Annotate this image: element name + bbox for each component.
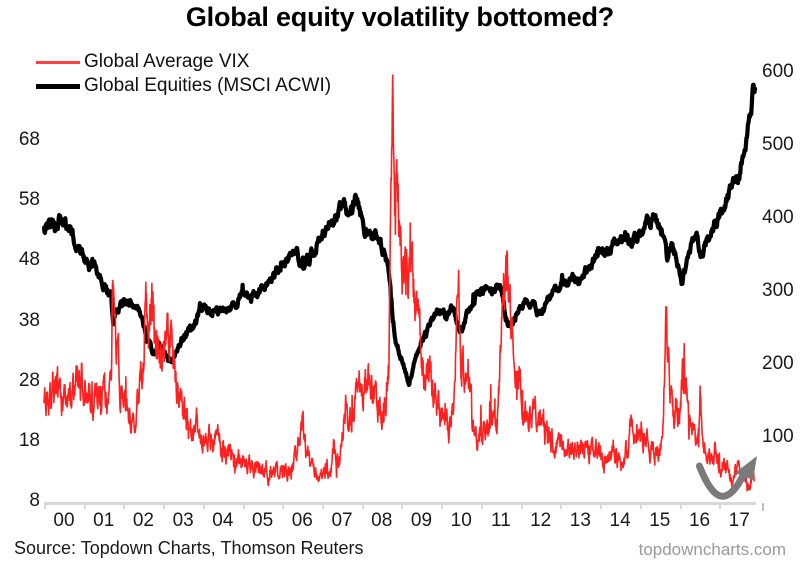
x-axis-end-tick [762, 503, 764, 511]
x-axis-tick-mark-15 [640, 502, 642, 509]
left-axis-tick-28: 28 [0, 371, 40, 390]
x-axis-tick-15: 15 [643, 510, 677, 532]
x-axis-tick-mark-09 [401, 502, 403, 509]
x-axis-tick-mark-02 [123, 502, 125, 509]
x-axis-tick-02: 02 [126, 510, 160, 532]
left-axis-tick-48: 48 [0, 250, 40, 269]
left-axis-tick-18: 18 [0, 431, 40, 450]
series-line-global-average-vix [44, 75, 754, 491]
x-axis-tick-mark-05 [243, 502, 245, 509]
x-axis-tick-12: 12 [524, 510, 558, 532]
footer-divider [0, 533, 800, 534]
left-axis-tick-8: 8 [0, 491, 40, 510]
right-axis-tick-500: 500 [762, 135, 800, 154]
x-axis-tick-03: 03 [166, 510, 200, 532]
plot-area [44, 62, 756, 502]
chart-title: Global equity volatility bottomed? [0, 2, 800, 33]
right-axis-tick-300: 300 [762, 281, 800, 300]
x-axis-tick-mark-13 [560, 502, 562, 509]
x-axis-tick-mark-00 [44, 502, 46, 509]
x-axis-tick-mark-14 [600, 502, 602, 509]
x-axis-tick-06: 06 [285, 510, 319, 532]
x-axis-tick-mark-07 [322, 502, 324, 509]
series-canvas [44, 62, 756, 502]
x-axis-tick-mark-01 [84, 502, 86, 509]
x-axis-tick-00: 00 [47, 510, 81, 532]
x-axis-tick-07: 07 [325, 510, 359, 532]
x-axis-tick-mark-11 [481, 502, 483, 509]
x-axis-tick-mark-16 [680, 502, 682, 509]
left-axis-tick-68: 68 [0, 130, 40, 149]
x-axis-tick-mark-17 [719, 502, 721, 509]
right-axis-tick-100: 100 [762, 427, 800, 446]
x-axis-tick-mark-10 [441, 502, 443, 509]
chart-container: Global equity volatility bottomed? Globa… [0, 0, 800, 576]
x-axis-tick-08: 08 [365, 510, 399, 532]
x-axis-tick-05: 05 [246, 510, 280, 532]
left-axis-tick-58: 58 [0, 190, 40, 209]
left-axis-tick-38: 38 [0, 311, 40, 330]
x-axis-tick-17: 17 [722, 510, 756, 532]
x-axis-tick-mark-06 [282, 502, 284, 509]
x-axis-tick-13: 13 [563, 510, 597, 532]
right-axis-tick-200: 200 [762, 354, 800, 373]
x-axis-tick-01: 01 [87, 510, 121, 532]
watermark: topdowncharts.com [639, 540, 786, 560]
x-axis-tick-mark-03 [163, 502, 165, 509]
x-axis-tick-14: 14 [603, 510, 637, 532]
x-axis-tick-16: 16 [683, 510, 717, 532]
x-axis-tick-mark-04 [203, 502, 205, 509]
right-axis-tick-600: 600 [762, 62, 800, 81]
x-axis-tick-11: 11 [484, 510, 518, 532]
x-axis-tick-mark-12 [521, 502, 523, 509]
x-axis-line [44, 502, 756, 505]
x-axis-tick-mark-08 [362, 502, 364, 509]
x-axis-tick-04: 04 [206, 510, 240, 532]
x-axis-tick-10: 10 [444, 510, 478, 532]
x-axis-tick-09: 09 [404, 510, 438, 532]
source-note: Source: Topdown Charts, Thomson Reuters [14, 538, 364, 559]
right-axis-tick-400: 400 [762, 208, 800, 227]
